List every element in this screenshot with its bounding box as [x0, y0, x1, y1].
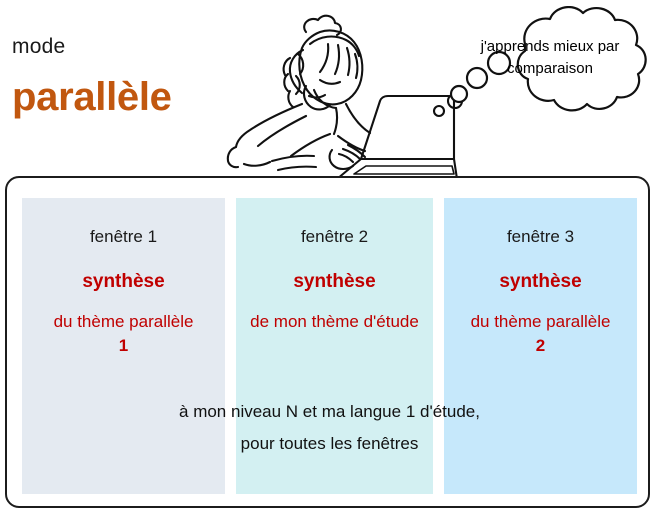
parallel-mode-panel: fenêtre 1 synthèse du thème parallèle 1 … [5, 176, 650, 508]
thought-bubble: j'apprends mieux par comparaison [447, 6, 652, 136]
caption-line-1: à mon niveau N et ma langue 1 d'étude, [7, 396, 652, 428]
caption-line-2: pour toutes les fenêtres [7, 428, 652, 460]
window-label-2: fenêtre 2 [236, 226, 433, 248]
synthese-label-2: synthèse [236, 270, 433, 294]
window-detail-1: du thème parallèle 1 [22, 310, 225, 358]
synthese-label-1: synthèse [22, 270, 225, 294]
page-title: parallèle [12, 74, 172, 120]
mode-label: mode [12, 34, 65, 60]
window-columns: fenêtre 1 synthèse du thème parallèle 1 … [7, 178, 652, 510]
student-at-laptop-illustration [210, 4, 470, 184]
window-detail-2: de mon thème d'étude [236, 310, 433, 334]
header-area: mode parallèle [0, 0, 657, 176]
window-detail-number-3: 2 [536, 336, 545, 355]
panel-caption: à mon niveau N et ma langue 1 d'étude, p… [7, 396, 652, 460]
window-detail-text-1: du thème parallèle [54, 312, 194, 331]
window-detail-text-3: du thème parallèle [471, 312, 611, 331]
window-detail-number-1: 1 [119, 336, 128, 355]
window-label-1: fenêtre 1 [22, 226, 225, 248]
window-detail-text-2: de mon thème d'étude [250, 312, 419, 331]
thought-bubble-text: j'apprends mieux par comparaison [475, 36, 625, 80]
window-label-3: fenêtre 3 [444, 226, 637, 248]
synthese-label-3: synthèse [444, 270, 637, 294]
window-detail-3: du thème parallèle 2 [444, 310, 637, 358]
